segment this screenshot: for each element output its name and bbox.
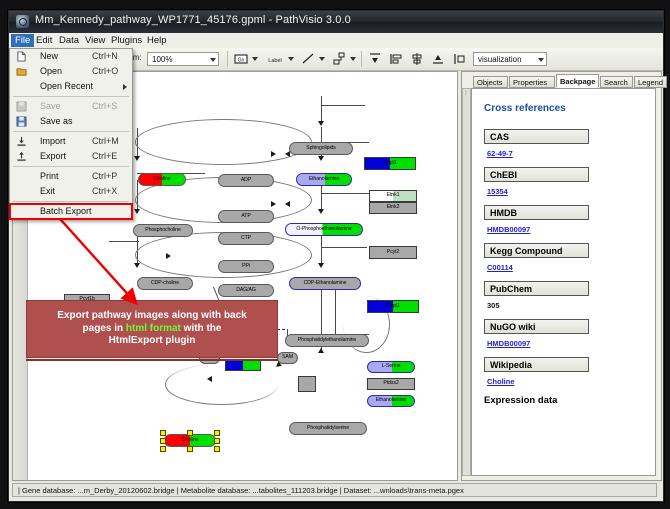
menu-separator-2 [13, 131, 129, 132]
pathvisio-icon [16, 15, 29, 28]
menu-item-open-accel: Ctrl+O [92, 64, 118, 79]
node-ctp[interactable]: CTP [218, 232, 274, 245]
menu-item-new[interactable]: New Ctrl+N [10, 49, 132, 64]
menu-item-export[interactable]: Export Ctrl+E [10, 149, 132, 164]
menu-separator-4 [13, 201, 129, 202]
menu-item-exit[interactable]: Exit Ctrl+X [10, 184, 132, 199]
file-menu-popup[interactable]: New Ctrl+N Open Ctrl+O Open Recent [9, 48, 133, 220]
selection-handle[interactable] [214, 430, 220, 436]
node-cdp-choline[interactable]: CDP-choline [137, 277, 193, 290]
menu-item-new-accel: Ctrl+N [92, 49, 118, 64]
line-dropdown-icon[interactable] [319, 57, 325, 61]
menu-edit[interactable]: Edit [32, 34, 56, 47]
menu-item-open-recent[interactable]: Open Recent [10, 79, 132, 94]
datanode-tool-icon[interactable]: Gn [233, 51, 249, 67]
edge-cdpetn-ptdetn [321, 231, 322, 265]
section-chebi-header: ChEBI [484, 167, 589, 182]
node-ethanolamine[interactable]: Ethanolamine [296, 173, 352, 186]
link-nugo[interactable]: HMDB00097 [487, 339, 530, 348]
node-phosphatidylserine[interactable]: Phosphatidylserine [289, 422, 367, 435]
interaction-tool-icon[interactable] [331, 51, 347, 67]
menu-help[interactable]: Help [143, 34, 171, 47]
selection-handle[interactable] [187, 446, 193, 452]
menu-data[interactable]: Data [55, 34, 83, 47]
chevron-down-icon [210, 58, 216, 62]
node-l-serine[interactable]: L-Serine [367, 361, 415, 373]
tab-legend[interactable]: Legend [634, 76, 667, 88]
screenshot-root: Mm_Kennedy_pathway_WP1771_45176.gpml - P… [0, 0, 670, 509]
interaction-dropdown-icon[interactable] [350, 57, 356, 61]
window-title: Mm_Kennedy_pathway_WP1771_45176.gpml - P… [35, 14, 351, 26]
zoom-combo[interactable]: 100% [147, 52, 219, 66]
panel-grip-icon: ⁞ [465, 93, 467, 96]
tab-backpage[interactable]: Backpage [556, 74, 599, 88]
node-o-phosphoethanolamine[interactable]: O-Phosphoethanolamine [285, 223, 363, 236]
node-sgpl1[interactable]: Sgpl1 [364, 157, 416, 170]
link-cas[interactable]: 62-49-7 [487, 149, 513, 158]
node-phosphocholine[interactable]: Phosphocholine [133, 224, 193, 237]
arrowhead-icon [318, 156, 324, 161]
zoom-value: 100% [152, 55, 172, 64]
node-unnamed-enzyme[interactable] [298, 376, 316, 392]
arrowhead-icon [134, 209, 140, 214]
menu-plugins[interactable]: Plugins [107, 34, 146, 47]
menu-item-save-as-label: Save as [40, 114, 73, 129]
node-ptdss2[interactable]: Ptdss2 [367, 378, 415, 390]
node-etnk2[interactable]: Etnk2 [369, 202, 417, 214]
arrowhead-icon [207, 376, 212, 382]
menu-item-save: Save Ctrl+S [10, 99, 132, 114]
menu-item-print[interactable]: Print Ctrl+P [10, 169, 132, 184]
section-cas-header: CAS [484, 129, 589, 144]
align-middle-icon[interactable] [430, 51, 446, 67]
align-left-icon[interactable] [388, 51, 404, 67]
node-phosphatidylethanolamine[interactable]: Phosphatidylethanolamine [285, 334, 369, 347]
node-atp[interactable]: ATP [218, 210, 274, 223]
node-pcyt2[interactable]: Pcyt2 [369, 246, 417, 259]
menu-item-batch-export[interactable]: Batch Export [10, 204, 132, 219]
edge-pcyt2-connector [321, 193, 369, 194]
menu-item-import[interactable]: Import Ctrl+M [10, 134, 132, 149]
menu-bar: File Edit Data View Plugins Help [9, 33, 663, 49]
menu-separator-1 [13, 96, 129, 97]
label-tool-icon[interactable]: Label [264, 51, 286, 67]
label-dropdown-icon[interactable] [288, 57, 294, 61]
annotation-line1: Export pathway images along with back [57, 310, 247, 321]
curve-choline-return [165, 364, 278, 405]
selection-handle[interactable] [160, 446, 166, 452]
arrowhead-icon [271, 201, 276, 207]
menu-item-exit-label: Exit [40, 184, 55, 199]
arrowhead-icon [271, 151, 276, 157]
link-kegg[interactable]: C00114 [487, 263, 513, 272]
link-chebi[interactable]: 15354 [487, 187, 508, 196]
toolbar-separator-2 [227, 51, 228, 67]
menu-item-export-label: Export [40, 149, 66, 164]
arrowhead-icon [318, 263, 324, 268]
section-wikipedia-header: Wikipedia [484, 357, 589, 372]
link-hmdb[interactable]: HMDB00097 [487, 225, 530, 234]
link-wikipedia[interactable]: Choline [487, 377, 515, 386]
status-bar: | Gene database: ...m_Derby_20120602.bri… [12, 483, 657, 497]
edge-sphingo-ethanolamine [321, 96, 322, 124]
panel-collapse-bar[interactable]: ⁞ [462, 88, 471, 476]
selection-handle[interactable] [160, 438, 166, 444]
selection-handle[interactable] [187, 430, 193, 436]
arrowhead-icon [166, 253, 171, 259]
tab-properties[interactable]: Properties [509, 76, 555, 88]
menu-file[interactable]: File [11, 34, 34, 47]
batch-export-icon-slot [10, 204, 34, 219]
section-nugo-header: NuGO wiki [484, 319, 589, 334]
selection-handle[interactable] [214, 446, 220, 452]
node-cept1[interactable]: Cept1 [367, 300, 419, 313]
annotation-line2b: with the [181, 323, 222, 334]
node-sam[interactable]: SAM [277, 352, 298, 364]
node-sphingolipids[interactable]: Sphingolipids [289, 142, 353, 155]
export-icon [10, 149, 34, 164]
arrowhead-icon [318, 209, 324, 214]
chevron-down-icon-2 [538, 58, 544, 62]
section-hmdb-header: HMDB [484, 205, 589, 220]
annotation-line3: HtmlExport plugin [109, 335, 196, 346]
title-bar: Mm_Kennedy_pathway_WP1771_45176.gpml - P… [9, 11, 663, 34]
arrowhead-icon [134, 156, 140, 161]
menu-item-exit-accel: Ctrl+X [92, 184, 117, 199]
import-icon [10, 134, 34, 149]
menu-item-batch-export-label: Batch Export [40, 204, 92, 219]
edge-cept1-connector [321, 247, 367, 248]
edge-sgpl1-connector [321, 105, 365, 106]
selection-handle[interactable] [214, 438, 220, 444]
menu-item-open-recent-label: Open Recent [40, 79, 93, 94]
annotation-line2a: pages in [83, 323, 126, 334]
selection-handle[interactable] [160, 430, 166, 436]
line-tool-icon[interactable] [300, 51, 316, 67]
node-choline[interactable]: Choline [138, 173, 186, 186]
visualization-value: visualization [478, 55, 522, 64]
edge-serine-branch [335, 288, 336, 336]
arrowhead-icon [318, 348, 324, 353]
menu-item-open[interactable]: Open Ctrl+O [10, 64, 132, 79]
menu-item-open-label: Open [40, 64, 62, 79]
menu-item-print-label: Print [40, 169, 59, 184]
menu-item-import-label: Import [40, 134, 66, 149]
menu-item-save-label: Save [40, 99, 61, 114]
side-panel: ⁞ Objects Properties Backpage Search Leg… [461, 71, 662, 481]
menu-separator-3 [13, 166, 129, 167]
tab-objects[interactable]: Objects [473, 76, 508, 88]
node-dag-ag[interactable]: DAG/AG [218, 284, 274, 297]
node-ppi[interactable]: PPi [218, 260, 274, 273]
annotation-highlight: html format [126, 323, 181, 334]
arrowhead-icon [134, 263, 140, 268]
menu-item-import-accel: Ctrl+M [92, 134, 119, 149]
node-etnk1[interactable]: Etnk1 [369, 190, 417, 202]
node-cdp-ethanolamine[interactable]: CDP-Ethanolamine [289, 277, 361, 290]
menu-view[interactable]: View [81, 34, 109, 47]
save-as-icon [10, 114, 34, 129]
section-kegg-header: Kegg Compound [484, 243, 589, 258]
menu-item-export-accel: Ctrl+E [92, 149, 117, 164]
curve-adp-atp [135, 119, 312, 165]
value-pubchem: 305 [487, 301, 500, 310]
tab-search[interactable]: Search [600, 76, 633, 88]
menu-item-print-accel: Ctrl+P [92, 169, 117, 184]
open-folder-icon [10, 64, 34, 79]
align-top-icon[interactable] [367, 51, 383, 67]
save-icon [10, 99, 34, 114]
menu-item-save-accel: Ctrl+S [92, 99, 117, 114]
new-file-icon [10, 49, 34, 64]
annotation-underline [26, 359, 278, 361]
pathvisio-window: Mm_Kennedy_pathway_WP1771_45176.gpml - P… [8, 10, 664, 502]
panel-tab-strip: Objects Properties Backpage Search Legen… [471, 74, 661, 88]
open-recent-icon-slot [10, 79, 34, 94]
menu-item-new-label: New [40, 49, 58, 64]
align-center-icon[interactable] [409, 51, 425, 67]
svg-text:Gn: Gn [238, 58, 245, 64]
exit-icon-slot [10, 184, 34, 199]
print-icon-slot [10, 169, 34, 184]
arrowhead-icon [285, 201, 290, 207]
node-adp[interactable]: ADP [218, 174, 274, 187]
align-bottom-icon[interactable] [451, 51, 467, 67]
backpage-content: Cross references CAS 62-49-7 ChEBI 15354… [471, 88, 656, 476]
toolbar-separator-3 [361, 51, 362, 67]
menu-item-save-as[interactable]: Save as [10, 114, 132, 129]
submenu-arrow-icon [123, 84, 127, 90]
visualization-combo[interactable]: visualization [473, 52, 547, 66]
node-ethanolamine-2[interactable]: Ethanolamine [367, 395, 415, 407]
cross-references-heading: Cross references [484, 103, 566, 114]
expression-data-heading: Expression data [484, 395, 557, 406]
svg-text:Label: Label [268, 58, 281, 64]
edge-pcyt1-connector [109, 241, 139, 242]
datanode-dropdown-icon[interactable] [252, 57, 258, 61]
node-pemt[interactable] [225, 360, 261, 371]
arrowhead-icon [318, 121, 324, 126]
annotation-banner: Export pathway images along with back pa… [26, 300, 278, 358]
section-pubchem-header: PubChem [484, 281, 589, 296]
